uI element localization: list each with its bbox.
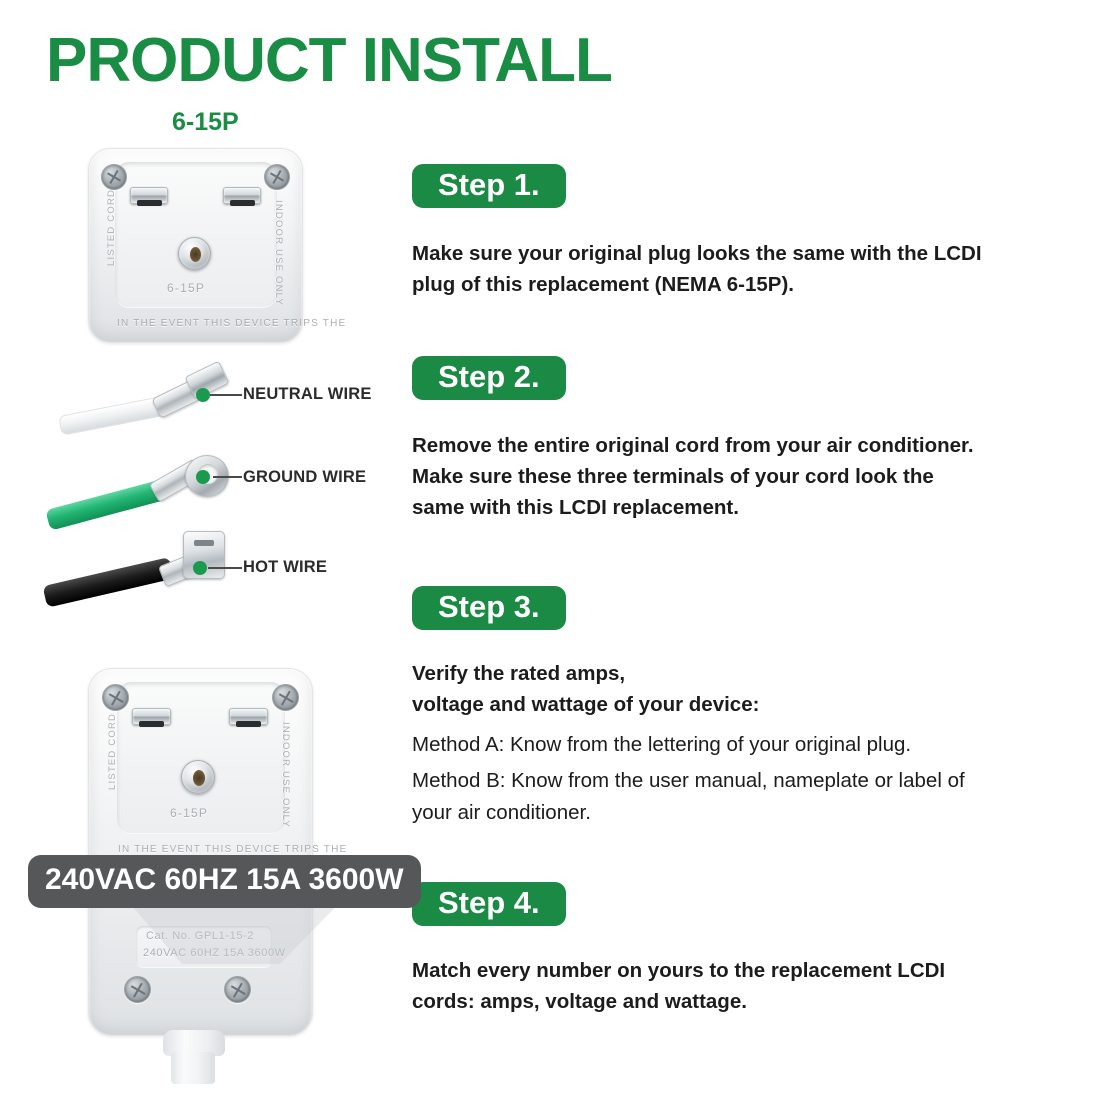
- blade-aperture-left: [137, 200, 162, 206]
- wire-hot-terminal-aperture: [194, 540, 214, 546]
- step-2-body: Remove the entire original cord from you…: [412, 430, 1072, 523]
- infographic-canvas: PRODUCT INSTALL 6-15P 6-15P INDOOR USE O…: [0, 0, 1096, 1096]
- wire-neutral-leader-line: [210, 394, 242, 396]
- step-2-line-3: same with this LCDI replacement.: [412, 492, 1072, 523]
- step-1-line-2: plug of this replacement (NEMA 6-15P).: [412, 269, 1072, 300]
- screw-bottom-left: [124, 976, 151, 1003]
- spec-callout-badge: 240VAC 60HZ 15A 3600W: [28, 855, 421, 908]
- wire-hot-label: HOT WIRE: [243, 558, 327, 577]
- step-2-line-2: Make sure these three terminals of your …: [412, 461, 1072, 492]
- wire-ground-marker-dot: [196, 470, 210, 484]
- plug-trip-notice-text: IN THE EVENT THIS DEVICE TRIPS THE: [117, 318, 346, 329]
- blade-aperture-right-bottom: [236, 721, 261, 727]
- wire-hot-leader-line: [208, 567, 242, 569]
- screw-bottom-right: [224, 976, 251, 1003]
- plug-top-caption: 6-15P: [172, 108, 239, 137]
- screw-top-left-bottom: [102, 684, 129, 711]
- plug-listed-text: LISTED CORD: [106, 189, 117, 266]
- power-cord: [171, 1052, 215, 1084]
- step-2-line-1: Remove the entire original cord from you…: [412, 430, 1072, 461]
- step-3-method-b-line-1: Method B: Know from the user manual, nam…: [412, 765, 1072, 796]
- step-4-badge: Step 4.: [412, 882, 566, 926]
- plug-face-model-label-bottom: 6-15P: [170, 806, 208, 820]
- step-3-method-b-line-2: your air conditioner.: [412, 797, 1072, 828]
- wire-hot-marker-dot: [193, 561, 207, 575]
- wire-ground-leader-line: [213, 476, 242, 478]
- wire-neutral-label: NEUTRAL WIRE: [243, 385, 372, 404]
- step-3-badge: Step 3.: [412, 586, 566, 630]
- plug-indoor-use-text: INDOOR USE ONLY: [273, 200, 284, 306]
- step-1-body: Make sure your original plug looks the s…: [412, 238, 1072, 300]
- screw-top-right-bottom: [272, 684, 299, 711]
- step-1-badge: Step 1.: [412, 164, 566, 208]
- step-4-body: Match every number on yours to the repla…: [412, 955, 1072, 1017]
- step-3-method-a: Method A: Know from the lettering of you…: [412, 729, 1072, 760]
- step-2-badge: Step 2.: [412, 356, 566, 400]
- step-3-line-1: Verify the rated amps,: [412, 658, 1072, 689]
- plug-indoor-use-text-bottom: INDOOR USE ONLY: [280, 722, 291, 828]
- step-4-line-2: cords: amps, voltage and wattage.: [412, 986, 1072, 1017]
- blade-aperture-right: [230, 200, 255, 206]
- ground-pin-hole-bottom: [193, 770, 205, 786]
- plug-illustration-top: 6-15P INDOOR USE ONLY LISTED CORD IN THE…: [88, 148, 303, 343]
- wire-ground-label: GROUND WIRE: [243, 468, 366, 487]
- plug-face-model-label: 6-15P: [167, 281, 205, 295]
- step-3-body: Verify the rated amps, voltage and watta…: [412, 658, 1072, 828]
- plug-listed-text-bottom: LISTED CORD: [107, 713, 118, 790]
- blade-aperture-left-bottom: [139, 721, 164, 727]
- page-title: PRODUCT INSTALL: [46, 28, 612, 93]
- screw-top-right: [264, 164, 290, 190]
- step-1-line-1: Make sure your original plug looks the s…: [412, 238, 1072, 269]
- ground-pin-hole: [190, 247, 201, 262]
- step-3-line-2: voltage and wattage of your device:: [412, 689, 1072, 720]
- ground-pin-bottom: [181, 760, 215, 794]
- wire-hot-cable: [43, 557, 175, 608]
- plug-trip-notice-text-bottom: IN THE EVENT THIS DEVICE TRIPS THE: [118, 844, 347, 855]
- step-4-line-1: Match every number on yours to the repla…: [412, 955, 1072, 986]
- screw-top-left: [101, 164, 127, 190]
- wire-ground-cable: [45, 479, 166, 530]
- ground-pin: [178, 237, 211, 270]
- wire-neutral-marker-dot: [196, 388, 210, 402]
